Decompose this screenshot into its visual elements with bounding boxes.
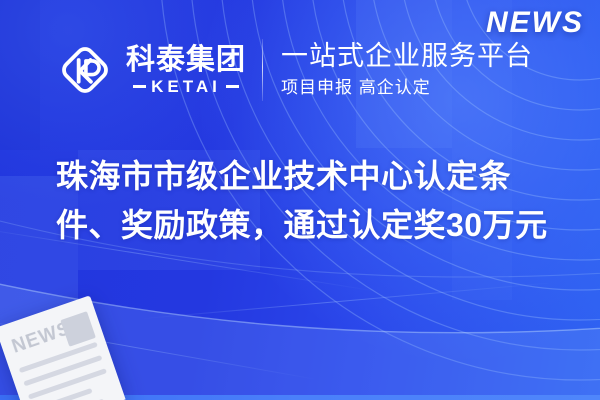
news-banner: 科泰集团 KETAI 一站式企业服务平台 项目申报 高企认定 NEWS 珠海市市… xyxy=(0,0,600,400)
company-logo[interactable]: 科泰集团 KETAI xyxy=(56,41,246,99)
light-streak xyxy=(141,282,559,320)
ketai-diamond-monogram-icon xyxy=(56,41,114,99)
newspaper-illustration-icon: NEWS xyxy=(0,291,133,400)
logo-dash-right xyxy=(226,85,239,88)
logo-chinese-name: 科泰集团 xyxy=(126,45,246,75)
news-wordmark: NEWS xyxy=(486,6,584,40)
logo-english-name: KETAI xyxy=(151,78,221,95)
header-divider xyxy=(262,39,263,101)
logo-dash-left xyxy=(133,85,146,88)
logo-english-row: KETAI xyxy=(133,78,239,95)
logo-wordmark: 科泰集团 KETAI xyxy=(126,45,246,95)
page-title: 珠海市市级企业技术中心认定条件、奖励政策，通过认定奖30万元 xyxy=(56,152,564,249)
slogan-secondary: 项目申报 高企认定 xyxy=(281,77,533,99)
slogan-primary: 一站式企业服务平台 xyxy=(281,41,533,73)
slogan-block: 一站式企业服务平台 项目申报 高企认定 xyxy=(281,41,533,99)
